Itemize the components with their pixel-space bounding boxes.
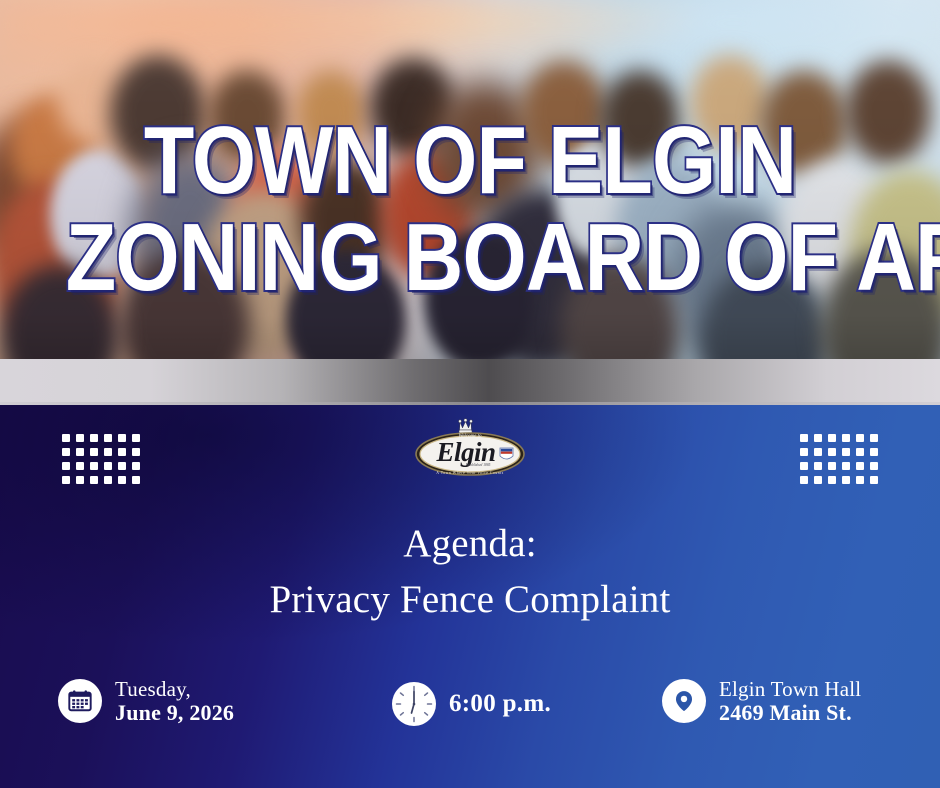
- dot: [842, 476, 850, 484]
- dot: [90, 448, 98, 456]
- event-time-group: 6:00 p.m.: [392, 682, 551, 726]
- dot: [90, 476, 98, 484]
- dot: [856, 434, 864, 442]
- event-location-text: Elgin Town Hall 2469 Main St.: [719, 678, 861, 725]
- event-address: 2469 Main St.: [719, 701, 861, 724]
- dot: [90, 434, 98, 442]
- dot: [118, 462, 126, 470]
- dot: [132, 462, 140, 470]
- dot-grid-left-decoration: [62, 434, 140, 484]
- event-weekday: Tuesday,: [115, 678, 234, 700]
- dot: [842, 434, 850, 442]
- dot: [118, 448, 126, 456]
- dot: [104, 434, 112, 442]
- dot: [870, 448, 878, 456]
- dot-grid-right-decoration: [800, 434, 878, 484]
- dot: [814, 434, 822, 442]
- event-date-group: Tuesday, June 9, 2026: [58, 678, 234, 725]
- dot: [828, 434, 836, 442]
- dot: [132, 434, 140, 442]
- elgin-seal-icon: Welcome to Elgin Established 1885 A Town…: [408, 418, 532, 480]
- calendar-glyph: [67, 688, 93, 714]
- map-pin-icon: [662, 679, 706, 723]
- dot: [104, 448, 112, 456]
- dot: [800, 462, 808, 470]
- event-venue: Elgin Town Hall: [719, 678, 861, 700]
- poster-title: TOWN OF ELGIN ZONING BOARD OF APPEALS: [0, 116, 940, 303]
- agenda-label: Agenda:: [0, 524, 940, 565]
- dot: [870, 462, 878, 470]
- event-details-bar: Tuesday, June 9, 2026: [0, 678, 940, 744]
- agenda-item: Privacy Fence Complaint: [0, 578, 940, 622]
- dot: [62, 462, 70, 470]
- title-line-zoning-board-of-appeals: ZONING BOARD OF APPEALS: [66, 213, 874, 302]
- dot: [814, 476, 822, 484]
- agenda-section: Agenda: Privacy Fence Complaint: [0, 524, 940, 622]
- dot: [856, 462, 864, 470]
- dot: [842, 462, 850, 470]
- dot: [104, 462, 112, 470]
- event-location-group: Elgin Town Hall 2469 Main St.: [662, 678, 861, 725]
- dot: [800, 448, 808, 456]
- meeting-announcement-poster: TOWN OF ELGIN ZONING BOARD OF APPEALS: [0, 0, 940, 788]
- dot: [856, 476, 864, 484]
- dot: [76, 434, 84, 442]
- event-date-text: Tuesday, June 9, 2026: [115, 678, 234, 725]
- dot: [76, 462, 84, 470]
- event-time-value: 6:00 p.m.: [449, 690, 551, 718]
- dot: [800, 476, 808, 484]
- dot: [118, 476, 126, 484]
- dot: [800, 434, 808, 442]
- dot: [104, 476, 112, 484]
- dot: [870, 434, 878, 442]
- title-line-town-of-elgin: TOWN OF ELGIN: [66, 116, 874, 205]
- dot: [90, 462, 98, 470]
- dot: [814, 448, 822, 456]
- dot: [828, 462, 836, 470]
- dot: [76, 476, 84, 484]
- elgin-town-logo: Welcome to Elgin Established 1885 A Town…: [408, 418, 532, 480]
- dot: [828, 448, 836, 456]
- clock-icon: [392, 682, 436, 726]
- dot: [814, 462, 822, 470]
- dot: [132, 448, 140, 456]
- dot: [856, 448, 864, 456]
- dot: [118, 434, 126, 442]
- svg-text:Established 1885: Established 1885: [465, 463, 491, 467]
- dot: [76, 448, 84, 456]
- clock-glyph: [392, 682, 436, 726]
- dot: [870, 476, 878, 484]
- svg-text:A Town Where Your Voice Counts: A Town Where Your Voice Counts: [436, 471, 503, 475]
- map-pin-glyph: [673, 688, 695, 714]
- dot: [62, 476, 70, 484]
- dot: [62, 448, 70, 456]
- dot: [62, 434, 70, 442]
- event-date-value: June 9, 2026: [115, 701, 234, 724]
- calendar-icon: [58, 679, 102, 723]
- silver-divider-band: [0, 359, 940, 405]
- dot: [132, 476, 140, 484]
- dot: [828, 476, 836, 484]
- dot: [842, 448, 850, 456]
